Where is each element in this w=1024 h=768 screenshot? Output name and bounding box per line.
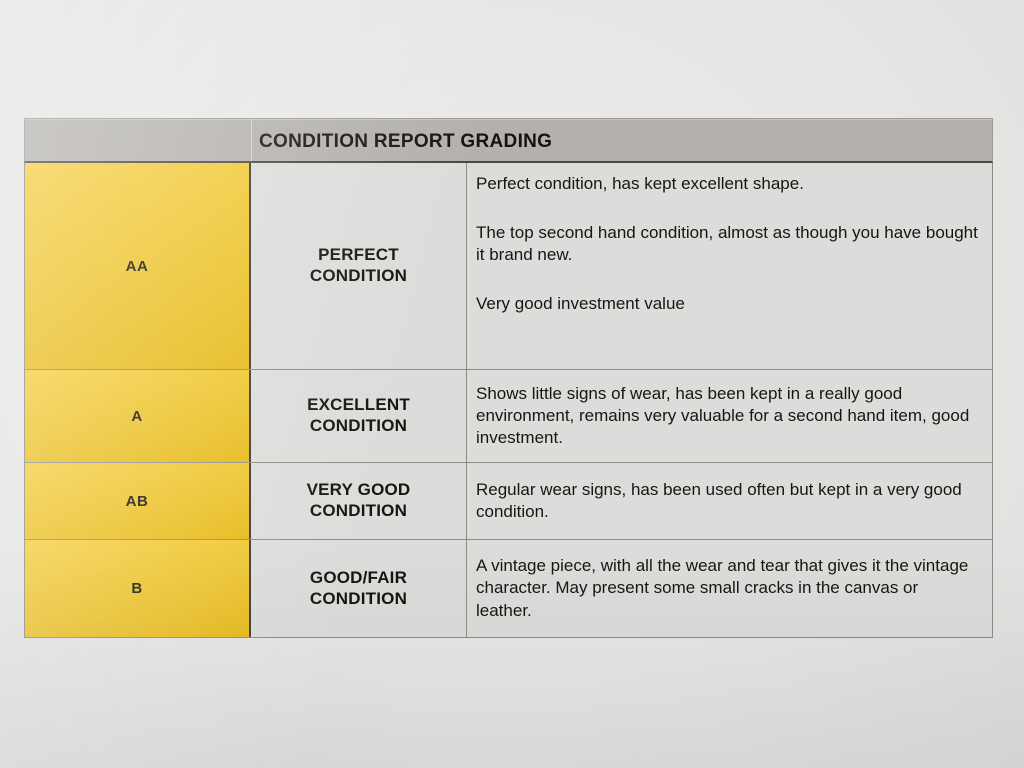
condition-label-line2: CONDITION	[310, 501, 407, 520]
grade-cell-ab: AB	[25, 463, 251, 539]
description-paragraph: Perfect condition, has kept excellent sh…	[476, 173, 978, 195]
grade-label: A	[131, 408, 142, 425]
condition-cell-b: GOOD/FAIR CONDITION	[251, 540, 467, 637]
condition-label: EXCELLENT CONDITION	[307, 395, 410, 436]
table-row: A EXCELLENT CONDITION Shows little signs…	[25, 370, 992, 463]
grade-label: B	[131, 580, 142, 597]
description-paragraph: Regular wear signs, has been used often …	[476, 479, 978, 523]
condition-label: VERY GOOD CONDITION	[307, 480, 411, 521]
condition-label-line2: CONDITION	[310, 416, 407, 435]
table-row: AB VERY GOOD CONDITION Regular wear sign…	[25, 463, 992, 540]
grade-label: AA	[126, 258, 149, 275]
condition-cell-a: EXCELLENT CONDITION	[251, 370, 467, 462]
condition-label-line1: PERFECT	[318, 245, 399, 264]
description-paragraph: Shows little signs of wear, has been kep…	[476, 383, 978, 449]
table-row: B GOOD/FAIR CONDITION A vintage piece, w…	[25, 540, 992, 637]
condition-cell-aa: PERFECT CONDITION	[251, 163, 467, 369]
condition-label-line1: VERY GOOD	[307, 480, 411, 499]
description-paragraph: The top second hand condition, almost as…	[476, 222, 978, 266]
description-cell-aa: Perfect condition, has kept excellent sh…	[467, 163, 992, 369]
condition-label-line1: EXCELLENT	[307, 395, 410, 414]
condition-label-line2: CONDITION	[310, 589, 407, 608]
condition-label-line2: CONDITION	[310, 266, 407, 285]
grade-cell-b: B	[25, 540, 251, 637]
grade-label: AB	[126, 493, 149, 510]
header-column-divider	[251, 119, 252, 161]
description-cell-a: Shows little signs of wear, has been kep…	[467, 370, 992, 462]
description-cell-ab: Regular wear signs, has been used often …	[467, 463, 992, 539]
table-row: AA PERFECT CONDITION Perfect condition, …	[25, 163, 992, 370]
condition-label: PERFECT CONDITION	[310, 245, 407, 286]
page-title: CONDITION REPORT GRADING	[259, 119, 552, 164]
description-cell-b: A vintage piece, with all the wear and t…	[467, 540, 992, 637]
table-header-band: CONDITION REPORT GRADING	[24, 118, 993, 163]
grade-cell-aa: AA	[25, 163, 251, 369]
grade-cell-a: A	[25, 370, 251, 462]
description-paragraph: Very good investment value	[476, 293, 978, 315]
condition-cell-ab: VERY GOOD CONDITION	[251, 463, 467, 539]
grading-table-body: AA PERFECT CONDITION Perfect condition, …	[24, 163, 993, 638]
description-paragraph: A vintage piece, with all the wear and t…	[476, 555, 978, 621]
condition-label-line1: GOOD/FAIR	[310, 568, 407, 587]
condition-label: GOOD/FAIR CONDITION	[310, 568, 407, 609]
